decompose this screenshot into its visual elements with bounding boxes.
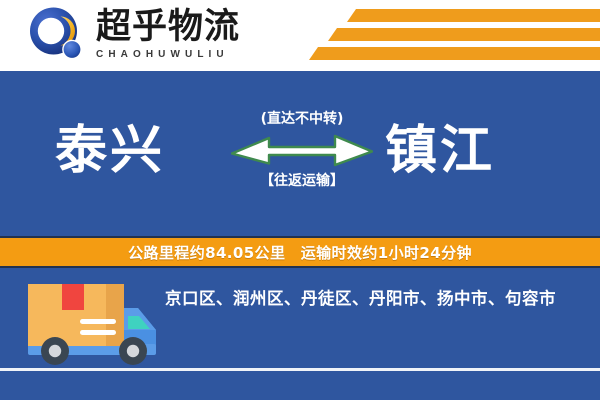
stripe-1 bbox=[347, 9, 600, 22]
brand-logo-text: 超乎物流 CHAOHUWULIU bbox=[96, 6, 240, 61]
round-trip-note: 【往返运输】 bbox=[222, 173, 382, 190]
brand-name-cn: 超乎物流 bbox=[96, 8, 240, 46]
route-arrow-group: (直达不中转) 【往返运输】 bbox=[222, 111, 382, 211]
brand-name-en: CHAOHUWULIU bbox=[96, 49, 240, 61]
chaohu-circle-crescent-logo-icon bbox=[28, 6, 86, 64]
destination-city: 镇江 bbox=[385, 121, 495, 181]
brand-logo[interactable]: 超乎物流 CHAOHUWULIU bbox=[28, 6, 240, 64]
route-info-bar: 公路里程约84.05公里 运输时效约1小时24分钟 bbox=[0, 236, 600, 268]
logistics-route-banner: 超乎物流 CHAOHUWULIU 泰兴 (直达不中转) 【往返运输】 镇江 公路… bbox=[0, 0, 600, 400]
origin-city: 泰兴 bbox=[55, 121, 165, 181]
distance-and-duration-text: 公路里程约84.05公里 运输时效约1小时24分钟 bbox=[128, 242, 472, 263]
stripe-3 bbox=[309, 47, 600, 60]
road-line bbox=[0, 368, 600, 371]
coverage-districts: 京口区、润州区、丹徒区、丹阳市、扬中市、句容市 bbox=[165, 279, 590, 315]
stripe-2 bbox=[328, 28, 600, 41]
delivery-truck-icon bbox=[18, 278, 170, 370]
route-panel: 泰兴 (直达不中转) 【往返运输】 镇江 bbox=[0, 71, 600, 236]
bidirectional-arrow-icon bbox=[222, 132, 382, 170]
coverage-districts-text: 京口区、润州区、丹徒区、丹阳市、扬中市、句容市 bbox=[165, 285, 556, 309]
banner-header: 超乎物流 CHAOHUWULIU bbox=[0, 0, 600, 71]
coverage-panel: 京口区、润州区、丹徒区、丹阳市、扬中市、句容市 bbox=[0, 268, 600, 400]
direct-service-note: (直达不中转) bbox=[222, 111, 382, 128]
header-stripes-decoration bbox=[310, 9, 600, 65]
